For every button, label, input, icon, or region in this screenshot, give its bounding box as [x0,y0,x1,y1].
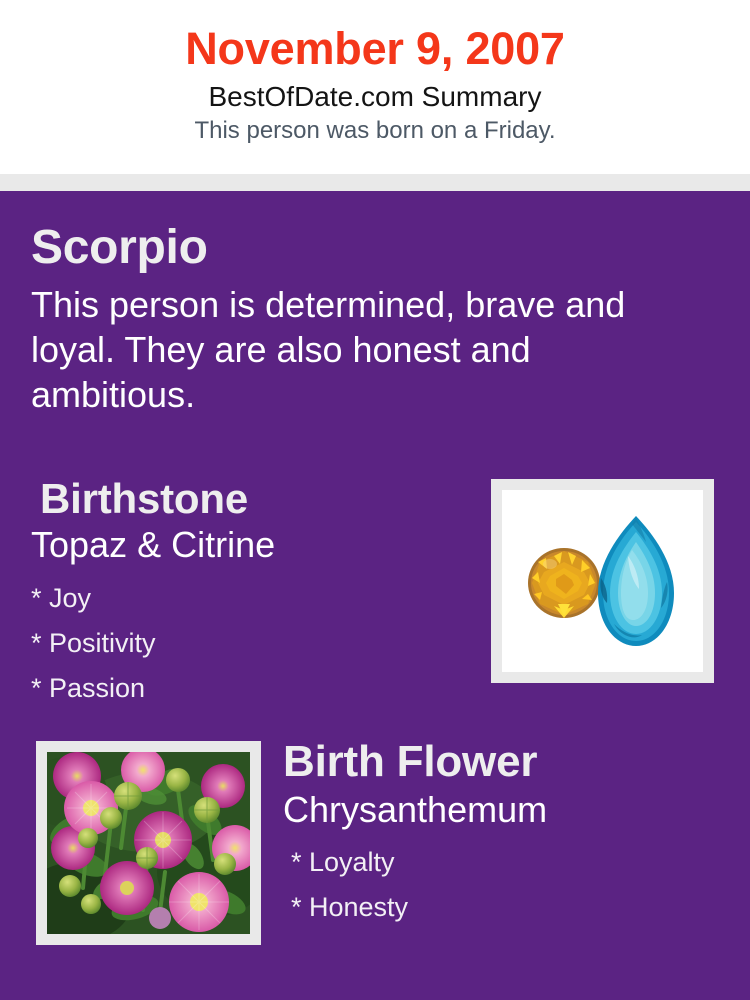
gemstones-icon [502,490,703,672]
birth-flower-title: Birth Flower [283,736,723,788]
card-header: November 9, 2007 BestOfDate.com Summary … [0,0,750,174]
zodiac-section: Scorpio This person is determined, brave… [31,220,711,417]
birthstone-image [502,490,703,672]
list-item: * Loyalty [291,840,723,885]
birthstone-image-frame [491,479,714,683]
born-day-note: This person was born on a Friday. [0,114,750,146]
chrysanthemum-flowers-icon [47,752,250,934]
header-divider [0,174,750,191]
zodiac-sign-name: Scorpio [31,220,711,276]
birth-flower-section: Birth Flower Chrysanthemum * Loyalty * H… [283,736,723,930]
list-item: * Honesty [291,885,723,930]
birth-flower-traits-list: * Loyalty * Honesty [283,832,723,930]
page-title: November 9, 2007 [0,0,750,76]
list-item: * Joy [31,576,461,621]
zodiac-description: This person is determined, brave and loy… [31,276,691,417]
site-summary-label: BestOfDate.com Summary [0,76,750,114]
birthstone-traits-list: * Joy * Positivity * Passion [31,566,461,711]
birthstone-names: Topaz & Citrine [31,524,461,566]
birth-flower-image [47,752,250,934]
birthstone-section: Birthstone Topaz & Citrine * Joy * Posit… [31,474,461,711]
birthstone-title: Birthstone [31,474,461,524]
birth-flower-image-frame [36,741,261,945]
birth-flower-name: Chrysanthemum [283,788,723,832]
summary-card: November 9, 2007 BestOfDate.com Summary … [0,0,750,1000]
list-item: * Positivity [31,621,461,666]
list-item: * Passion [31,666,461,711]
